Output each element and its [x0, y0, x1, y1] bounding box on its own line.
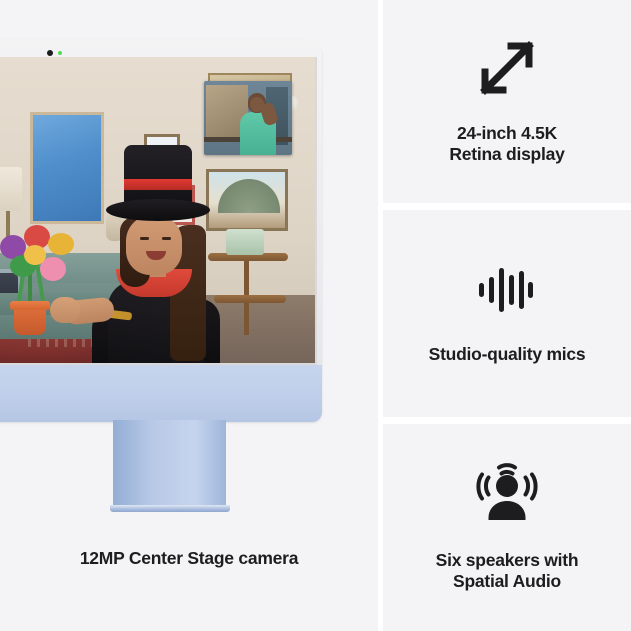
scene-blue-artwork	[30, 112, 104, 224]
imac-stand-foot	[110, 505, 230, 512]
feature-display: 24-inch 4.5K Retina display	[383, 0, 631, 203]
scene-floor-lamp-shade	[0, 167, 22, 211]
imac-device	[0, 40, 322, 422]
feature-speakers-label: Six speakers with Spatial Audio	[436, 550, 579, 593]
scene-girl-face	[126, 215, 182, 275]
scene-flower-pot-rim	[10, 301, 50, 310]
panel-display: 24-inch 4.5K Retina display	[383, 0, 631, 203]
scene-girl-eye	[162, 237, 171, 240]
feature-mics-label: Studio-quality mics	[429, 344, 586, 365]
camera-lens-icon	[47, 50, 53, 56]
feature-speakers: Six speakers with Spatial Audio	[383, 424, 631, 631]
audio-waveform-icon	[476, 261, 538, 324]
imac-screen	[0, 57, 315, 363]
expand-diagonal-arrows-icon	[477, 38, 537, 103]
facetime-pip-window[interactable]	[204, 81, 292, 155]
scene-girl-top-hat-brim	[106, 199, 210, 221]
scene-green-box	[226, 229, 264, 255]
scene-side-table	[214, 295, 286, 303]
imac-chin	[0, 365, 322, 422]
feature-display-label: 24-inch 4.5K Retina display	[449, 123, 564, 166]
panel-speakers: Six speakers with Spatial Audio	[383, 424, 631, 631]
camera-caption: 12MP Center Stage camera	[0, 548, 378, 569]
panel-camera: 12MP Center Stage camera	[0, 0, 378, 631]
spatial-audio-person-icon	[475, 463, 539, 530]
feature-mics: Studio-quality mics	[383, 210, 631, 417]
scene-flower	[48, 233, 74, 255]
panel-mics: Studio-quality mics	[383, 210, 631, 417]
scene-flower	[24, 245, 46, 265]
scene-girl-hand	[50, 297, 80, 323]
scene-girl-top-hat-crown	[124, 145, 192, 203]
scene-girl-top-hat-band	[124, 179, 192, 190]
scene-girl-eye	[140, 237, 149, 240]
product-feature-grid: 12MP Center Stage camera 24-inch 4.5K Re…	[0, 0, 631, 631]
imac-stand	[113, 420, 226, 508]
camera-active-indicator-icon	[58, 51, 62, 55]
